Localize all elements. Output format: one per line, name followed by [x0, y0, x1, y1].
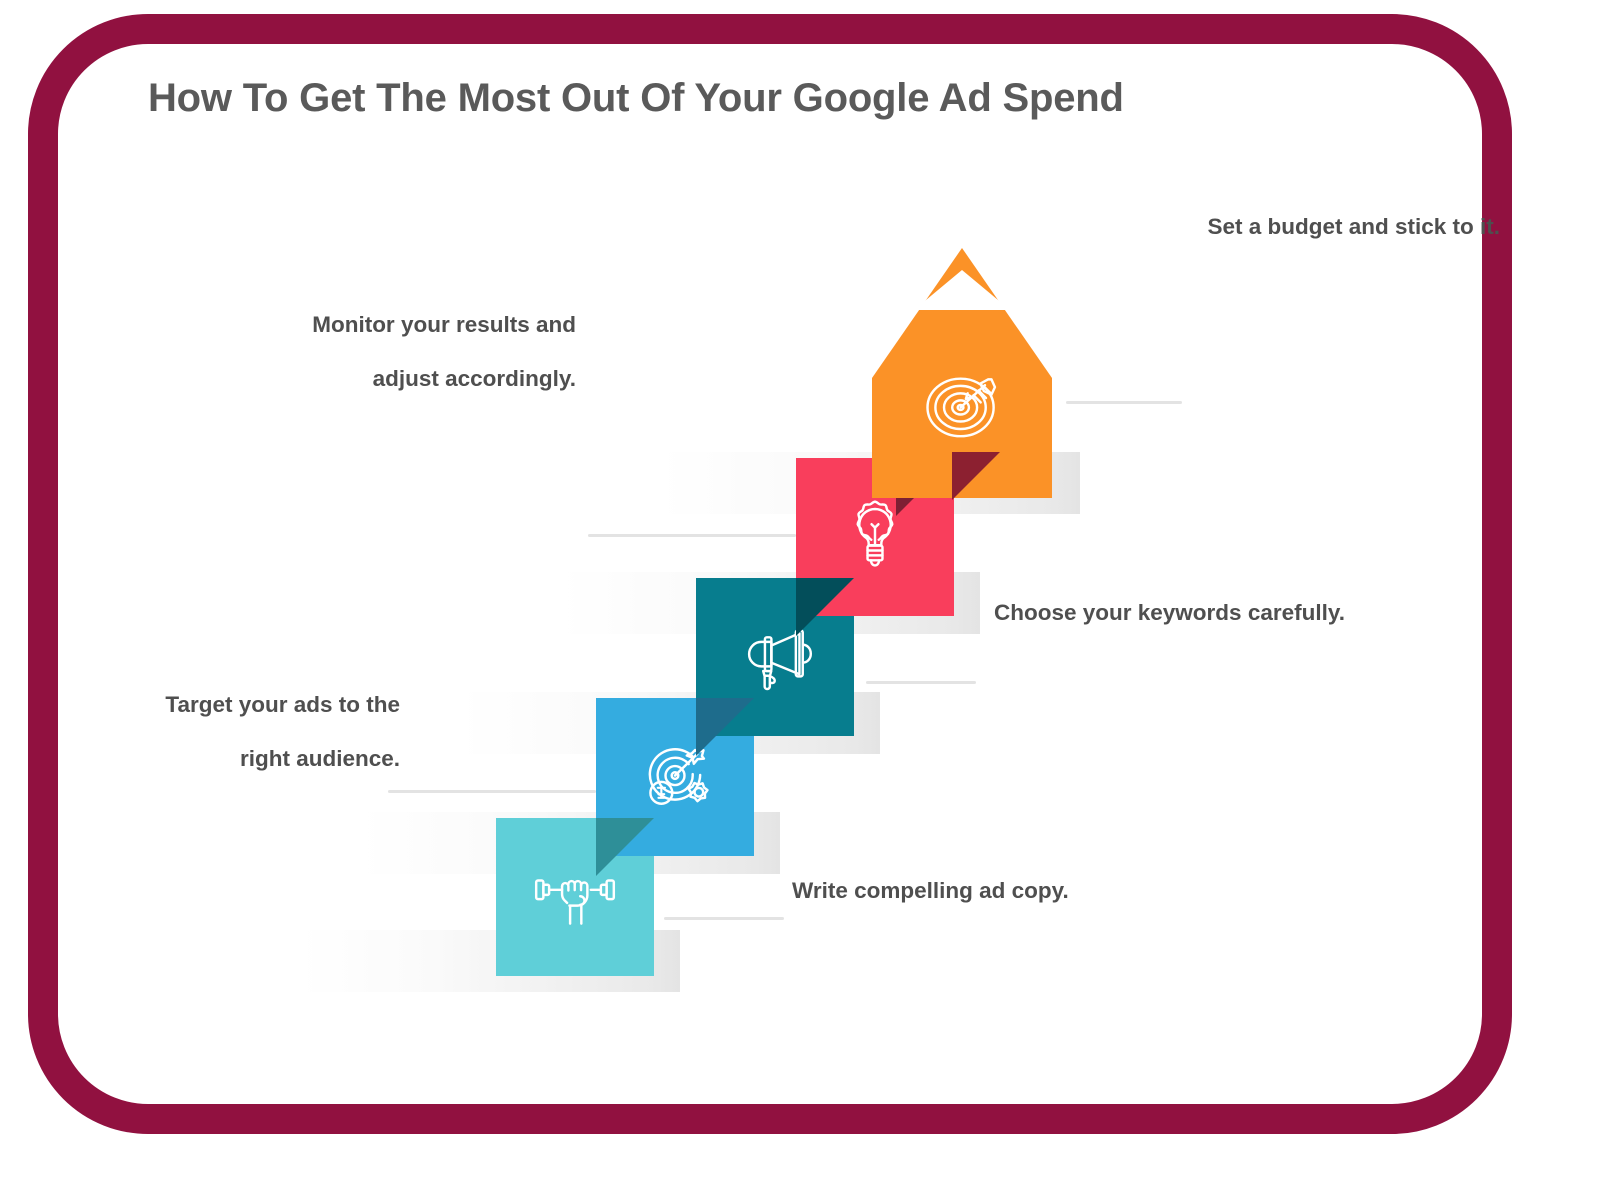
fold-corner-step-1 — [596, 818, 654, 876]
fold-corner-step-5 — [952, 452, 1000, 500]
step-label-3: Choose your keywords carefully. — [994, 586, 1414, 640]
step-tile-5-notch — [914, 270, 1010, 310]
step-label-1: Write compelling ad copy. — [792, 864, 1152, 918]
connector-line-step-4 — [588, 534, 796, 537]
step-label-4: Monitor your results and adjust accordin… — [258, 298, 576, 406]
step-label-5: Set a budget and stick to it. — [1198, 200, 1500, 254]
steps-stage: Set a budget and stick to it. Monitor yo… — [0, 0, 1600, 1200]
fold-corner-step-2 — [696, 698, 754, 756]
connector-line-step-2 — [388, 790, 596, 793]
step-label-2: Target your ads to the right audience. — [118, 678, 400, 786]
target-arrow-icon — [916, 360, 1008, 452]
infographic-canvas: How To Get The Most Out Of Your Google A… — [0, 0, 1600, 1200]
step-tile-5-icon-wrap — [872, 360, 1052, 452]
connector-line-step-1 — [664, 917, 784, 920]
fold-corner-step-3 — [796, 578, 854, 636]
connector-line-step-3 — [866, 681, 976, 684]
connector-line-step-5 — [1066, 401, 1182, 404]
